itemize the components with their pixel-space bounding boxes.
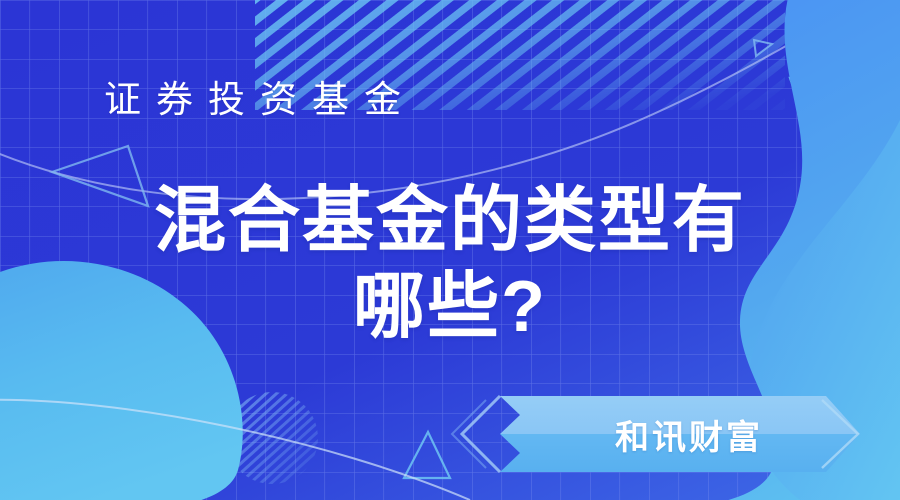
page-title: 混合基金的类型有 哪些?	[0, 178, 900, 350]
page-title-line-1: 混合基金的类型有	[110, 178, 790, 264]
brand-name: 和讯财富	[564, 392, 814, 476]
page-title-line-2: 哪些?	[110, 264, 790, 350]
poster-content: 证券投资基金 混合基金的类型有 哪些?	[0, 0, 900, 500]
poster-canvas: 证券投资基金 混合基金的类型有 哪些?	[0, 0, 900, 500]
brand-ribbon: 和讯财富	[486, 392, 900, 476]
category-label: 证券投资基金	[104, 76, 416, 124]
